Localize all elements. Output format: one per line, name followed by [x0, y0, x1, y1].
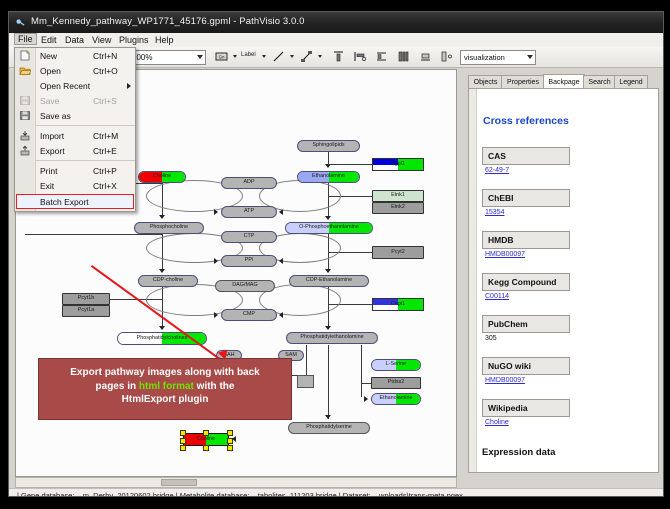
arrowhead-down-icon: [159, 215, 165, 219]
node-phosphatidylserine[interactable]: Phosphatidylserine: [288, 422, 370, 434]
xref-header-kegg-compound: Kegg Compound: [482, 273, 570, 291]
menu-item-import-accel: Ctrl+M: [93, 131, 118, 141]
annotation-callout: Export pathway images along with back pa…: [38, 358, 292, 420]
arrowhead-right-icon: [214, 312, 218, 318]
menu-item-exit[interactable]: Exit Ctrl+X: [15, 178, 135, 193]
menu-plugins[interactable]: Plugins: [115, 34, 153, 46]
node-etnk2[interactable]: Etnk2: [372, 202, 424, 214]
save-as-icon: [19, 110, 31, 121]
menu-item-batch-export-label: Batch Export: [40, 197, 89, 207]
menu-item-new[interactable]: New Ctrl+N: [15, 48, 135, 63]
expression-data-title: Expression data: [482, 447, 555, 458]
status-bar: | Gene database: ...m_Derby_20120602.bri…: [9, 488, 663, 497]
arrowhead-down-icon: [325, 269, 331, 273]
node-o-phosphoethanolamine[interactable]: O-Phosphoethanolamine: [285, 222, 373, 234]
interaction-tool-icon[interactable]: [299, 49, 314, 64]
tab-legend[interactable]: Legend: [614, 75, 648, 89]
menu-item-export-accel: Ctrl+E: [93, 146, 117, 156]
menu-item-save-accel: Ctrl+S: [93, 96, 117, 106]
node-phosphatidylethanolamine[interactable]: Phosphatidylethanolamine: [286, 332, 378, 344]
label-tool-label[interactable]: Label: [241, 52, 256, 58]
pathvisio-icon: [15, 17, 26, 28]
visualization-combobox[interactable]: visualization: [460, 50, 536, 65]
menu-item-save-as-label: Save as: [40, 111, 71, 121]
menu-separator: [36, 160, 135, 161]
sidebar-panel: Objects Properties Backpage Search Legen…: [461, 69, 657, 475]
edge-ptdetn-ptdserine: [328, 345, 329, 419]
menu-item-open-label: Open: [40, 66, 61, 76]
selection-handle[interactable]: [180, 430, 186, 436]
tab-search[interactable]: Search: [583, 75, 616, 89]
node-reaction-block[interactable]: [297, 375, 314, 388]
edge-sgpl1: [328, 164, 372, 165]
xref-header-cas: CAS: [482, 147, 570, 165]
node-ptdss2[interactable]: Ptdss2: [371, 377, 421, 389]
selection-handle[interactable]: [203, 445, 209, 451]
selection-handle[interactable]: [227, 445, 233, 451]
node-choline[interactable]: Choline: [138, 171, 186, 183]
tab-objects[interactable]: Objects: [468, 75, 503, 89]
node-pcyt1a[interactable]: Pcyt1a: [62, 305, 110, 317]
node-adp[interactable]: ADP: [221, 177, 277, 189]
menu-item-open-recent-label: Open Recent: [40, 81, 90, 91]
common-height-icon[interactable]: [439, 49, 454, 64]
annotation-line2-pre: pages in: [96, 381, 139, 392]
distribute-horizontal-icon[interactable]: [374, 49, 389, 64]
chevron-right-icon: [127, 83, 131, 89]
menu-item-export-label: Export: [40, 146, 65, 156]
xref-value-nugo-wiki[interactable]: HMDB00097: [485, 377, 525, 384]
edge-ptdss2: [361, 383, 371, 384]
xref-header-pubchem: PubChem: [482, 315, 570, 333]
arrowhead-right-icon: [214, 258, 218, 264]
interaction-tool-dropdown-icon[interactable]: [318, 55, 322, 58]
cross-references-title: Cross references: [483, 115, 569, 127]
node-pcyt2[interactable]: Pcyt2: [372, 246, 424, 259]
file-menu-dropdown[interactable]: New Ctrl+N Open Ctrl+O Open Recent Save …: [14, 47, 136, 212]
align-top-icon[interactable]: [331, 49, 346, 64]
window-title: Mm_Kennedy_pathway_WP1771_45176.gpml - P…: [31, 16, 305, 27]
menu-item-print[interactable]: Print Ctrl+P: [15, 163, 135, 178]
xref-value-hmdb[interactable]: HMDB00097: [485, 251, 525, 258]
menu-item-new-label: New: [40, 51, 57, 61]
svg-text:Gn: Gn: [219, 55, 225, 60]
save-disk-icon: [19, 95, 31, 106]
node-sphingolipids[interactable]: Sphingolipids: [297, 140, 360, 152]
menu-item-export[interactable]: Export Ctrl+E: [15, 143, 135, 158]
export-icon: [19, 145, 31, 156]
common-width-icon[interactable]: [418, 49, 433, 64]
sidebar-tabstrip: Objects Properties Backpage Search Legen…: [468, 74, 657, 88]
xref-value-kegg-compound[interactable]: C00114: [485, 293, 509, 300]
menu-view[interactable]: View: [88, 34, 115, 46]
backpage-scrollbar[interactable]: [469, 89, 477, 472]
arrowhead-down-icon: [325, 216, 331, 220]
menu-item-exit-accel: Ctrl+X: [93, 181, 117, 191]
menu-item-open-recent[interactable]: Open Recent: [15, 78, 135, 93]
arrowhead-down-icon: [325, 415, 331, 419]
title-bar: Mm_Kennedy_pathway_WP1771_45176.gpml - P…: [9, 12, 663, 33]
selection-handle[interactable]: [180, 445, 186, 451]
menu-item-save-label: Save: [40, 96, 59, 106]
new-document-icon: [19, 50, 31, 61]
selection-handle[interactable]: [203, 430, 209, 436]
edge-left-in-phosphocholine: [25, 234, 162, 235]
selection-handle[interactable]: [227, 430, 233, 436]
xref-value-cas[interactable]: 62-49-7: [485, 167, 509, 174]
edge-sam-branch: [306, 345, 307, 375]
line-tool-icon[interactable]: [271, 49, 286, 64]
open-folder-icon: [19, 65, 31, 76]
node-ctp[interactable]: CTP: [221, 231, 277, 243]
xref-header-chebi: ChEBI: [482, 189, 570, 207]
node-sgpl1[interactable]: Sgpl1: [372, 158, 424, 171]
node-phosphocholine[interactable]: Phosphocholine: [134, 222, 204, 234]
menu-item-print-label: Print: [40, 166, 57, 176]
menu-item-import-label: Import: [40, 131, 64, 141]
node-pcyt1b[interactable]: Pcyt1b: [62, 293, 110, 305]
menu-item-import[interactable]: Import Ctrl+M: [15, 128, 135, 143]
arrowhead-down-icon: [325, 326, 331, 330]
arrowhead-left-icon: [279, 209, 283, 215]
selection-handle[interactable]: [180, 438, 186, 444]
gene-tool-dropdown-icon[interactable]: [233, 55, 237, 58]
menu-item-open-accel: Ctrl+O: [93, 66, 118, 76]
arrowhead-down-icon: [159, 326, 165, 330]
backpage-panel[interactable]: Cross references CAS 62-49-7 ChEBI 15354…: [468, 88, 659, 473]
label-tool-dropdown-icon[interactable]: [262, 55, 266, 58]
node-etnk1[interactable]: Etnk1: [372, 190, 424, 202]
node-cdp-ethanolamine[interactable]: CDP-Ethanolamine: [289, 275, 369, 287]
stack-icon[interactable]: [396, 49, 411, 64]
annotation-line2-post: with the: [194, 381, 235, 392]
chevron-down-icon: [197, 55, 203, 59]
desktop-background: Mm_Kennedy_pathway_WP1771_45176.gpml - P…: [0, 0, 670, 509]
node-ppi[interactable]: PPi: [221, 255, 277, 267]
pathvisio-window: Mm_Kennedy_pathway_WP1771_45176.gpml - P…: [8, 11, 664, 497]
status-text: | Gene database: ...m_Derby_20120602.bri…: [17, 491, 463, 497]
arrowhead-right-icon: [214, 209, 218, 215]
menu-item-open[interactable]: Open Ctrl+O: [15, 63, 135, 78]
menu-edit[interactable]: Edit: [37, 34, 61, 46]
node-ethanolamine[interactable]: Ethanolamine: [297, 171, 360, 183]
menu-item-batch-export[interactable]: Batch Export: [16, 194, 134, 209]
arrowhead-left-icon: [279, 312, 283, 318]
menu-item-new-accel: Ctrl+N: [93, 51, 117, 61]
zoom-combobox[interactable]: 100%: [128, 50, 206, 65]
menu-item-save: Save Ctrl+S: [15, 93, 135, 108]
annotation-html-format: html format: [139, 381, 194, 392]
node-l-serine[interactable]: L-Serine: [371, 359, 421, 371]
tab-properties[interactable]: Properties: [501, 75, 545, 89]
xref-value-wikipedia[interactable]: Choline: [485, 419, 509, 426]
annotation-line3: HtmlExport plugin: [122, 394, 209, 405]
menu-separator: [36, 125, 135, 126]
arrowhead-left-icon: [279, 258, 283, 264]
annotation-line1: Export pathway images along with back: [70, 367, 260, 378]
menu-help[interactable]: Help: [151, 34, 178, 46]
edge-ptdetn-serine-branch: [361, 345, 362, 397]
xref-header-wikipedia: Wikipedia: [482, 399, 570, 417]
node-atp[interactable]: ATP: [221, 206, 277, 218]
canvas-horizontal-scrollbar[interactable]: [15, 477, 457, 488]
chevron-down-icon: [527, 55, 533, 59]
menu-item-exit-label: Exit: [40, 181, 54, 191]
menu-item-print-accel: Ctrl+P: [93, 166, 117, 176]
arrowhead-right-icon: [364, 396, 368, 402]
node-dag-mag[interactable]: DAG/MAG: [215, 280, 275, 292]
node-cept1[interactable]: Cept1: [372, 298, 424, 311]
node-cmp[interactable]: CMP: [221, 309, 277, 321]
menu-bar: File Edit Data View Plugins Help: [9, 33, 663, 48]
align-left-icon[interactable]: [352, 49, 367, 64]
menu-data[interactable]: Data: [61, 34, 88, 46]
xref-value-pubchem: 305: [485, 335, 497, 342]
import-icon: [19, 130, 31, 141]
gene-product-tool-icon[interactable]: Gn: [214, 49, 229, 64]
arrowhead-left-icon: [232, 436, 236, 442]
node-ethanolamine-lower[interactable]: Ethanolamine: [371, 393, 421, 405]
menu-item-save-as[interactable]: Save as: [15, 108, 135, 123]
line-tool-dropdown-icon[interactable]: [290, 55, 294, 58]
xref-header-hmdb: HMDB: [482, 231, 570, 249]
menu-file[interactable]: File: [14, 33, 37, 45]
arrowhead-down-icon: [159, 269, 165, 273]
xref-value-chebi[interactable]: 15354: [485, 209, 504, 216]
xref-header-nugo-wiki: NuGO wiki: [482, 357, 570, 375]
visualization-value: visualization: [464, 53, 505, 62]
node-cdp-choline[interactable]: CDP-choline: [138, 275, 198, 287]
scrollbar-thumb[interactable]: [161, 479, 197, 486]
